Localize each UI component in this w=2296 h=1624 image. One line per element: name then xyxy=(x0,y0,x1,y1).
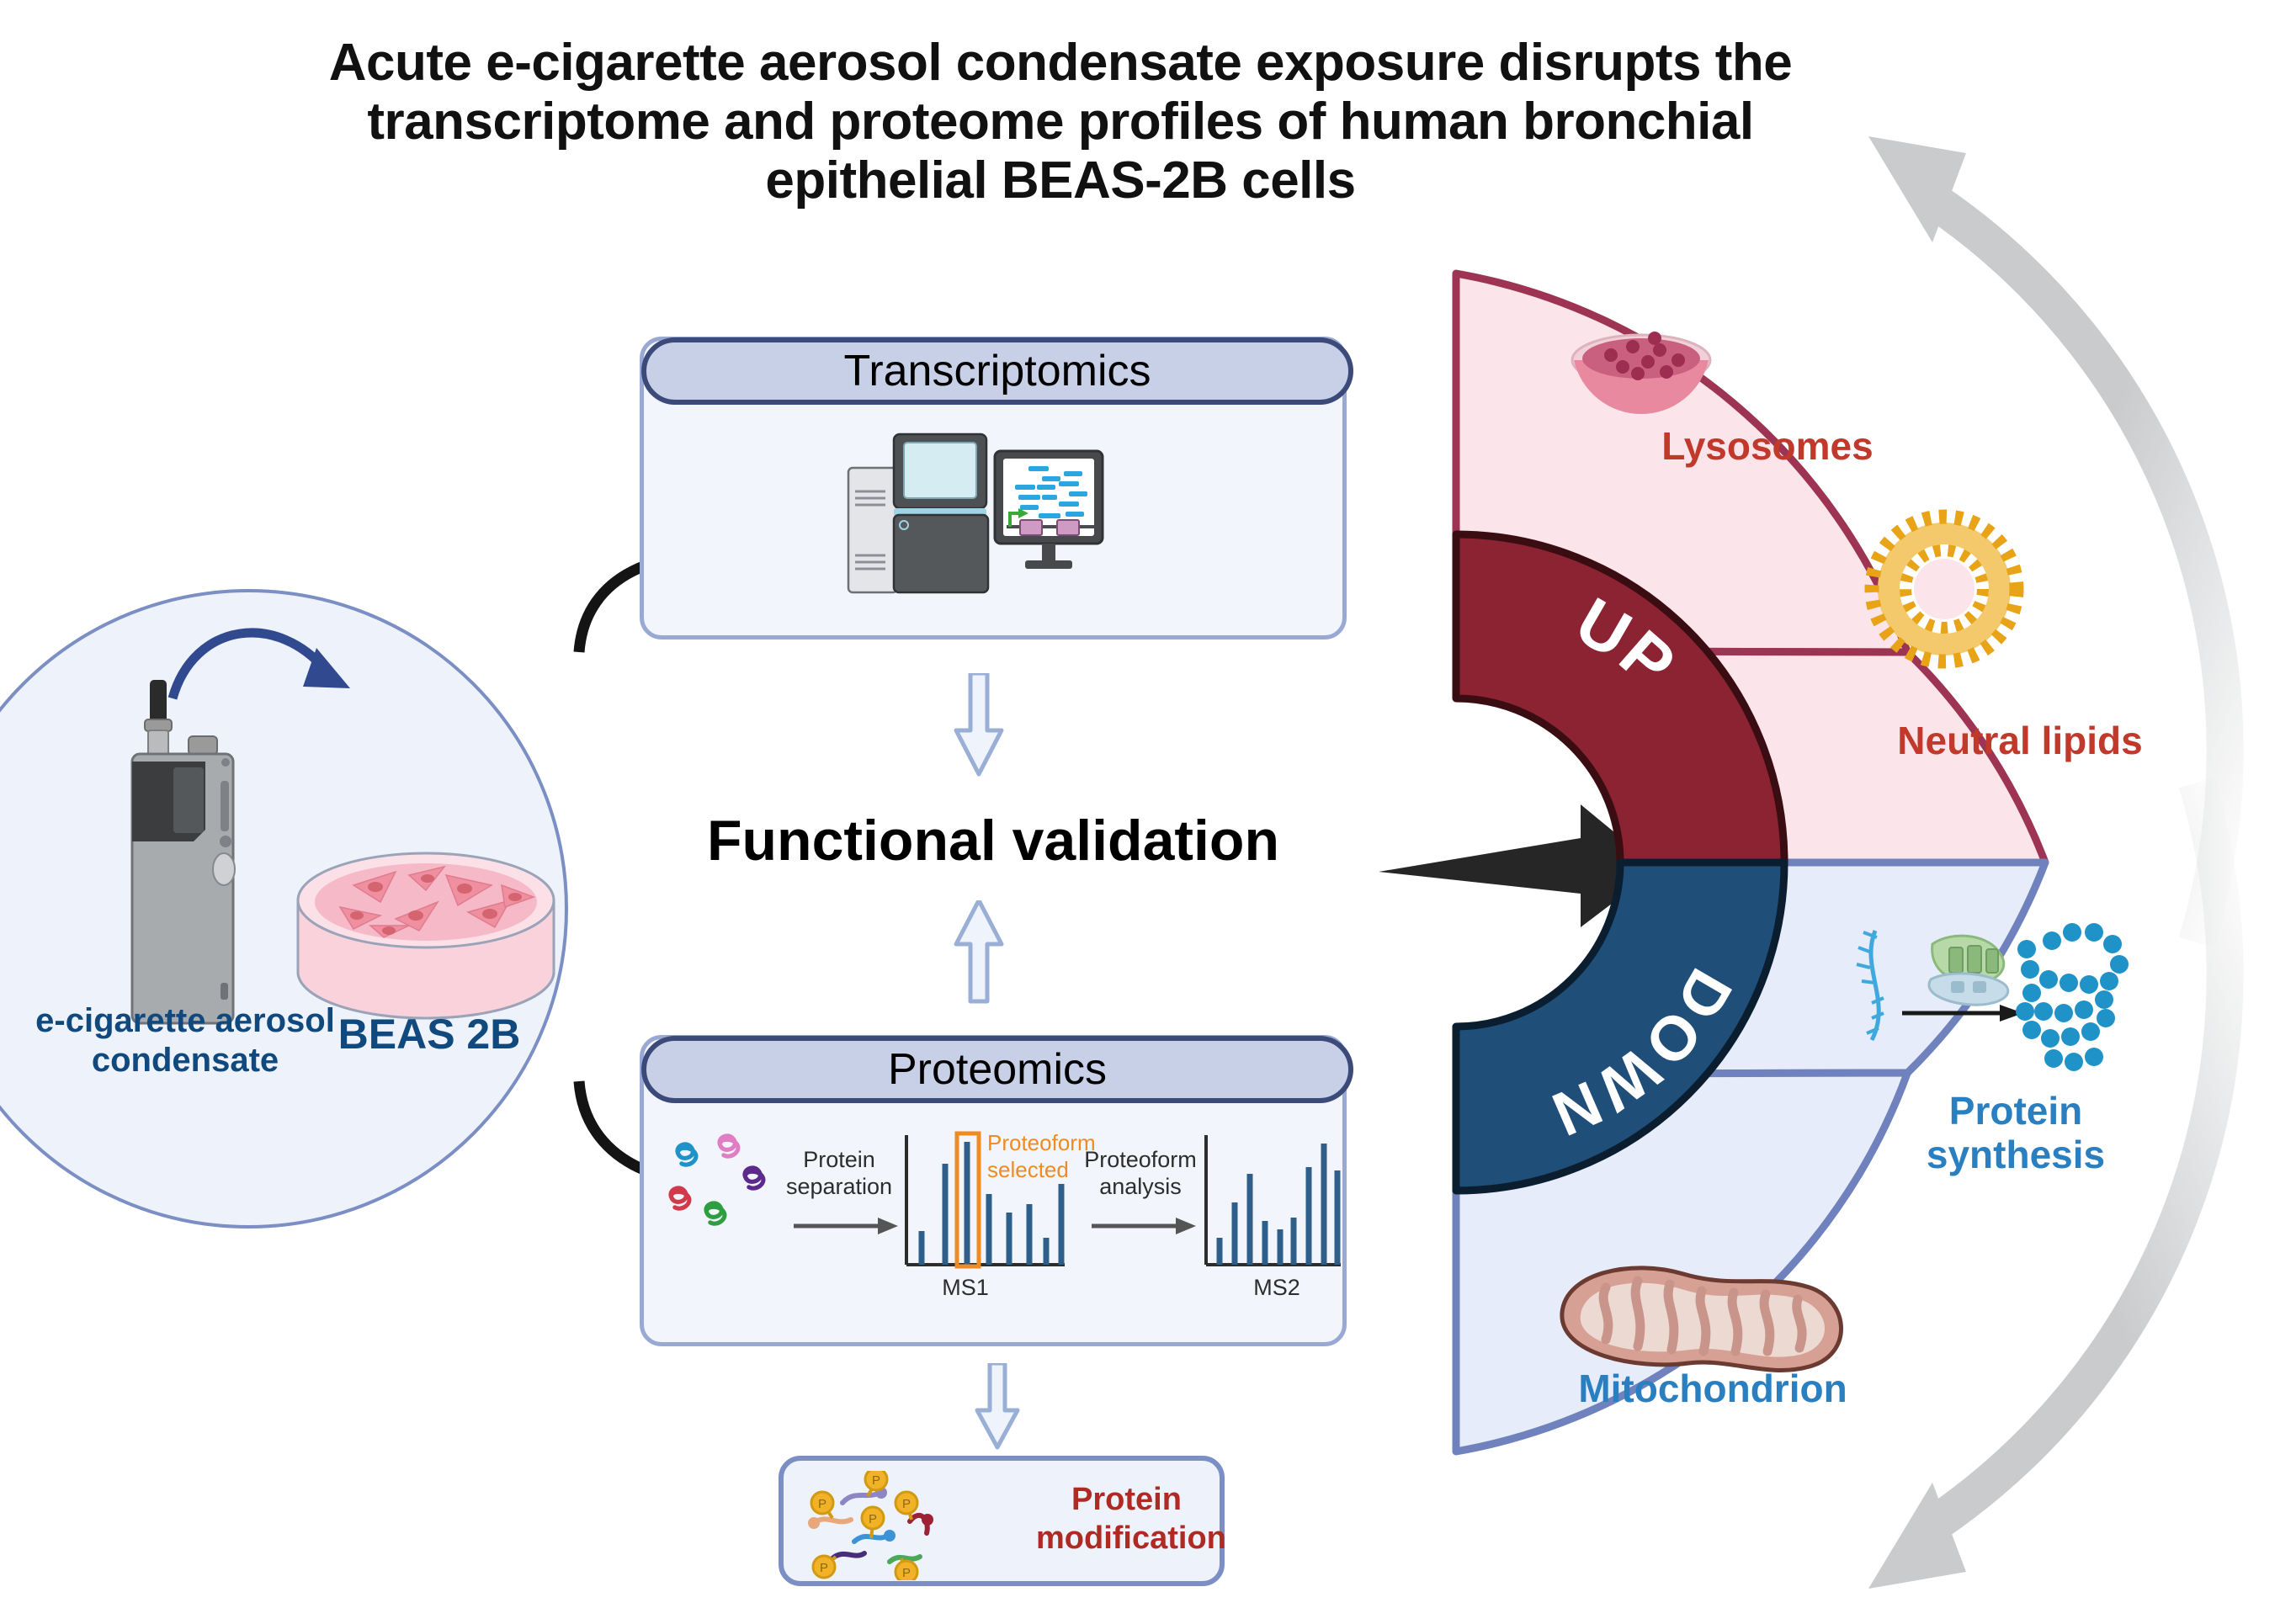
functional-validation-label: Functional validation xyxy=(656,808,1330,873)
proteomics-workflow-illustration: Protein separation Proteoform selected M… xyxy=(652,1115,1342,1334)
transcriptomics-panel[interactable]: Transcriptomics xyxy=(640,337,1347,640)
monitor-rnaseq-icon xyxy=(995,451,1103,569)
sequencer-icon xyxy=(848,434,988,592)
protein-coils-icon xyxy=(671,1136,763,1223)
svg-text:P: P xyxy=(902,1566,911,1580)
ms1-spectrum: Proteoform selected MS1 xyxy=(906,1130,1096,1300)
proteoform-selected-label: Proteoform xyxy=(987,1130,1096,1155)
protein-synthesis-label: Protein synthesis xyxy=(1889,1090,2142,1176)
mitochondrion-label: Mitochondrion xyxy=(1536,1367,1889,1411)
hollow-down-arrow-icon xyxy=(949,673,1008,783)
svg-text:analysis: analysis xyxy=(1099,1174,1182,1199)
svg-text:P: P xyxy=(902,1497,911,1511)
petri-dish-cells-icon xyxy=(298,853,554,1018)
protein-modification-label: Protein modification xyxy=(1036,1481,1217,1558)
proteomics-header: Proteomics xyxy=(641,1036,1353,1103)
proteomics-panel[interactable]: Proteomics Protein separation xyxy=(640,1035,1347,1346)
lysosomes-label: Lysosomes xyxy=(1608,425,1927,469)
svg-text:P: P xyxy=(818,1497,826,1511)
svg-text:P: P xyxy=(872,1473,880,1488)
ms2-axis-label: MS2 xyxy=(1253,1275,1300,1300)
protein-separation-label: Protein xyxy=(803,1147,875,1172)
mitochondrion-icon xyxy=(1562,1268,1842,1371)
hollow-down-arrow-protmod-icon xyxy=(972,1363,1023,1456)
ms1-axis-label: MS1 xyxy=(942,1275,989,1300)
svg-text:P: P xyxy=(820,1561,828,1575)
svg-text:selected: selected xyxy=(987,1157,1069,1182)
phospho-protein-icon: PPP PPP xyxy=(802,1471,1029,1580)
svg-text:separation: separation xyxy=(786,1174,892,1199)
curved-exposure-arrow-icon xyxy=(173,633,350,698)
proteoform-analysis-label: Proteoform xyxy=(1084,1147,1197,1172)
neutral-lipids-label: Neutral lipids xyxy=(1894,719,2146,763)
svg-text:P: P xyxy=(869,1512,877,1526)
transcriptomics-illustration xyxy=(842,429,1178,597)
transcriptomics-header: Transcriptomics xyxy=(641,337,1353,405)
e-cigarette-device-icon xyxy=(132,680,235,1023)
protein-modification-panel[interactable]: PPP PPP Protein modification xyxy=(779,1456,1225,1586)
hollow-up-arrow-icon xyxy=(949,900,1008,1010)
ms2-spectrum: MS2 xyxy=(1206,1135,1341,1300)
